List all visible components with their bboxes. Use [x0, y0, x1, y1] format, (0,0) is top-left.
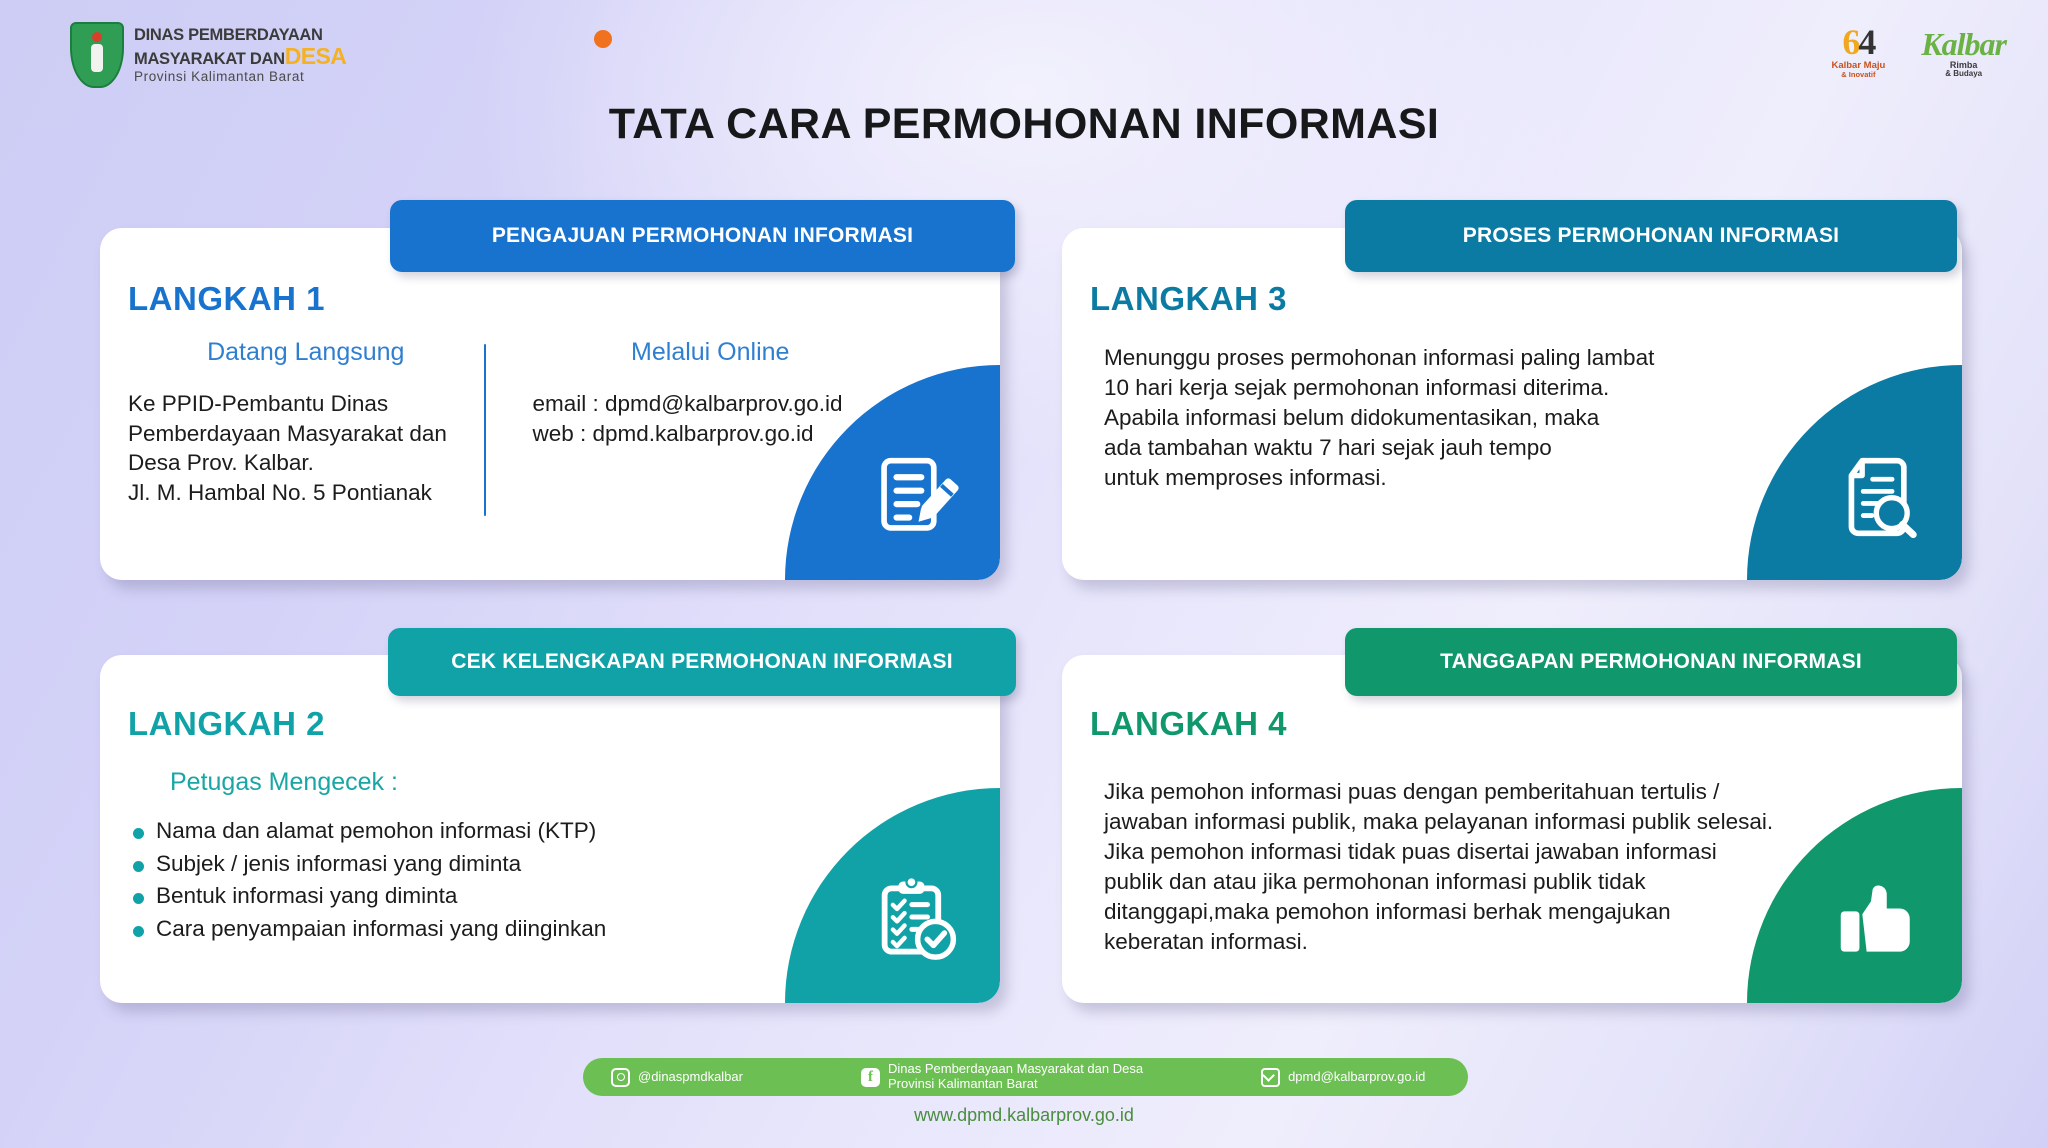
- page-title: TATA CARA PERMOHONAN INFORMASI: [0, 100, 2048, 149]
- step-1-ribbon: PENGAJUAN PERMOHONAN INFORMASI: [390, 200, 1015, 272]
- kalbar-maju-logo: 64 Kalbar Maju & Inovatif: [1831, 24, 1885, 78]
- list-item: Nama dan alamat pemohon informasi (KTP): [130, 815, 606, 848]
- kalbar-tagline-2: & Budaya: [1921, 70, 2006, 78]
- step-1-col-a-text: Ke PPID-Pembantu Dinas Pemberdayaan Masy…: [128, 389, 484, 508]
- step-4-label: LANGKAH 4: [1090, 705, 1287, 743]
- logo-line-3: Provinsi Kalimantan Barat: [134, 70, 346, 84]
- text-line: jawaban informasi publik, maka pelayanan…: [1104, 807, 1773, 837]
- text-line: Menunggu proses permohonan informasi pal…: [1104, 343, 1654, 373]
- instagram-handle: @dinaspmdkalbar: [638, 1070, 743, 1085]
- text-line: Jika pemohon informasi puas dengan pembe…: [1104, 777, 1773, 807]
- footer-contact-bar: @dinaspmdkalbar f Dinas Pemberdayaan Mas…: [583, 1058, 1468, 1096]
- card-step-1: LANGKAH 1 Datang Langsung Ke PPID-Pemban…: [100, 228, 1000, 580]
- step-1-column-datang-langsung: Datang Langsung Ke PPID-Pembantu Dinas P…: [128, 338, 484, 516]
- organization-logo-text: DINAS PEMBERDAYAAN MASYARAKAT DANDESA Pr…: [134, 27, 346, 83]
- kalbar-wordmark: Kalbar: [1921, 28, 2006, 60]
- step-1-label: LANGKAH 1: [128, 280, 325, 318]
- text-line: untuk memproses informasi.: [1104, 463, 1654, 493]
- step-4-icon-corner: [1747, 788, 1962, 1003]
- text-line: 10 hari kerja sejak permohonan informasi…: [1104, 373, 1654, 403]
- email-line: email : dpmd@kalbarprov.go.id: [532, 389, 888, 419]
- website-url[interactable]: www.dpmd.kalbarprov.go.id: [0, 1105, 2048, 1126]
- step-4-text: Jika pemohon informasi puas dengan pembe…: [1104, 777, 1773, 957]
- text-line: ditanggapi,maka pemohon informasi berhak…: [1104, 897, 1773, 927]
- email-icon: [1261, 1068, 1280, 1087]
- facebook-icon: f: [861, 1068, 880, 1087]
- text-line: ada tambahan waktu 7 hari sejak jauh tem…: [1104, 433, 1654, 463]
- clipboard-check-icon: [875, 876, 963, 964]
- logo-line-1: DINAS PEMBERDAYAAN: [134, 27, 346, 44]
- card-step-4: LANGKAH 4 Jika pemohon informasi puas de…: [1062, 655, 1962, 1003]
- decorative-orange-dot: [594, 30, 612, 48]
- logo-line-2: MASYARAKAT DANDESA: [134, 45, 346, 68]
- instagram-icon: [611, 1068, 630, 1087]
- step-1-col-b-text: email : dpmd@kalbarprov.go.id web : dpmd…: [532, 389, 888, 448]
- kalbar-maju-tagline-2: & Inovatif: [1831, 71, 1885, 79]
- document-search-icon: [1838, 454, 1924, 540]
- facebook-name-line-1: Dinas Pemberdayaan Masyarakat dan Desa: [888, 1061, 1143, 1076]
- footer-facebook[interactable]: f Dinas Pemberdayaan Masyarakat dan Desa…: [861, 1062, 1143, 1091]
- step-2-label: LANGKAH 2: [128, 705, 325, 743]
- step-3-ribbon: PROSES PERMOHONAN INFORMASI: [1345, 200, 1957, 272]
- facebook-name-line-2: Provinsi Kalimantan Barat: [888, 1077, 1143, 1092]
- step-4-ribbon: TANGGAPAN PERMOHONAN INFORMASI: [1345, 628, 1957, 696]
- list-item: Cara penyampaian informasi yang diingink…: [130, 913, 606, 946]
- shield-emblem-icon: [70, 22, 124, 88]
- step-1-columns: Datang Langsung Ke PPID-Pembantu Dinas P…: [128, 338, 888, 516]
- footer-email[interactable]: dpmd@kalbarprov.go.id: [1261, 1068, 1425, 1087]
- text-line: Desa Prov. Kalbar.: [128, 448, 484, 478]
- infographic-poster: DINAS PEMBERDAYAAN MASYARAKAT DANDESA Pr…: [0, 0, 2048, 1148]
- step-2-subheading: Petugas Mengecek :: [170, 768, 398, 797]
- organization-logo: DINAS PEMBERDAYAAN MASYARAKAT DANDESA Pr…: [70, 22, 346, 88]
- text-line: Apabila informasi belum didokumentasikan…: [1104, 403, 1654, 433]
- thumbs-up-icon: [1835, 874, 1927, 966]
- text-line: keberatan informasi.: [1104, 927, 1773, 957]
- step-3-text: Menunggu proses permohonan informasi pal…: [1104, 343, 1654, 493]
- step-1-column-divider: [484, 344, 487, 516]
- kalbar-rimba-budaya-logo: Kalbar Rimba & Budaya: [1921, 28, 2006, 78]
- partner-logos: 64 Kalbar Maju & Inovatif Kalbar Rimba &…: [1831, 24, 2006, 78]
- card-step-2: LANGKAH 2 Petugas Mengecek : Nama dan al…: [100, 655, 1000, 1003]
- list-item: Subjek / jenis informasi yang diminta: [130, 848, 606, 881]
- step-2-ribbon: CEK KELENGKAPAN PERMOHONAN INFORMASI: [388, 628, 1016, 696]
- footer-instagram[interactable]: @dinaspmdkalbar: [611, 1068, 743, 1087]
- facebook-name: Dinas Pemberdayaan Masyarakat dan Desa P…: [888, 1062, 1143, 1091]
- step-3-label: LANGKAH 3: [1090, 280, 1287, 318]
- step-3-icon-corner: [1747, 365, 1962, 580]
- text-line: Jl. M. Hambal No. 5 Pontianak: [128, 478, 484, 508]
- step-2-icon-corner: [785, 788, 1000, 1003]
- text-line: publik dan atau jika permohonan informas…: [1104, 867, 1773, 897]
- step-2-checklist: Nama dan alamat pemohon informasi (KTP) …: [130, 815, 606, 946]
- list-item: Bentuk informasi yang diminta: [130, 880, 606, 913]
- step-1-col-b-heading: Melalui Online: [532, 338, 888, 367]
- card-step-3: LANGKAH 3 Menunggu proses permohonan inf…: [1062, 228, 1962, 580]
- text-line: Jika pemohon informasi tidak puas disert…: [1104, 837, 1773, 867]
- kalbar-maju-mark: 64: [1831, 24, 1885, 60]
- text-line: Pemberdayaan Masyarakat dan: [128, 419, 484, 449]
- text-line: Ke PPID-Pembantu Dinas: [128, 389, 484, 419]
- document-pencil-icon: [876, 454, 962, 540]
- email-address: dpmd@kalbarprov.go.id: [1288, 1070, 1425, 1085]
- logo-accent-desa: DESA: [285, 43, 347, 69]
- step-1-col-a-heading: Datang Langsung: [128, 338, 484, 367]
